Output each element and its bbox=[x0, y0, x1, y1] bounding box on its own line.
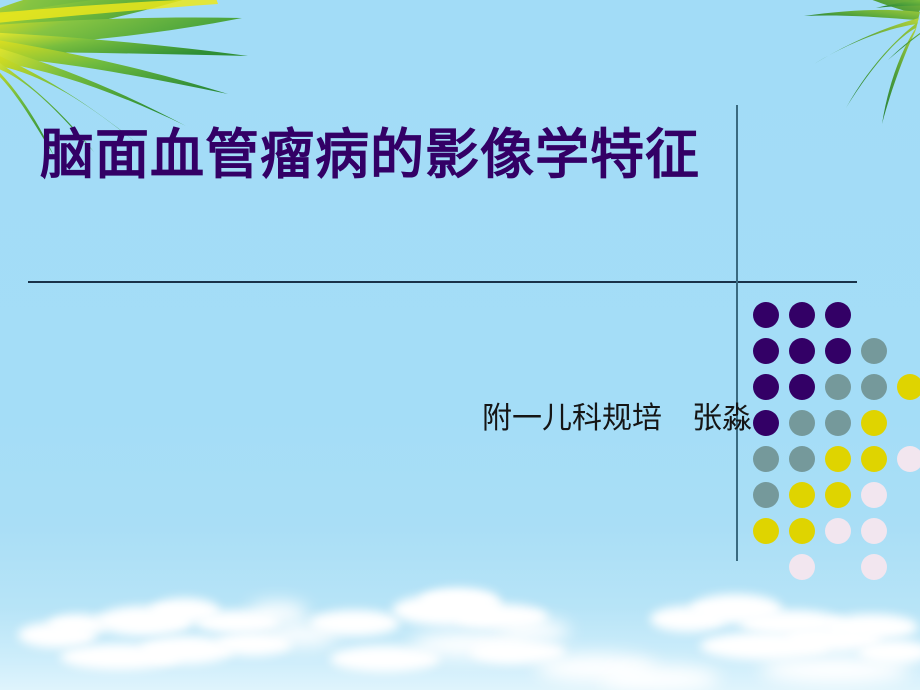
decor-dot-pink bbox=[897, 446, 920, 472]
decor-dot-purple bbox=[753, 374, 779, 400]
decor-dot-pink bbox=[861, 554, 887, 580]
decor-dot-pink bbox=[861, 482, 887, 508]
decor-dot-teal bbox=[753, 482, 779, 508]
decor-dot-yellow bbox=[789, 482, 815, 508]
cloud-shape bbox=[858, 640, 920, 664]
decor-dot-yellow bbox=[897, 374, 920, 400]
decor-dot-pink bbox=[825, 518, 851, 544]
decor-dot-purple bbox=[825, 302, 851, 328]
decor-dot-teal bbox=[861, 338, 887, 364]
cloud-shape bbox=[248, 602, 308, 624]
cloud-shape bbox=[600, 666, 720, 690]
decor-dot-purple bbox=[753, 302, 779, 328]
vertical-divider bbox=[736, 105, 738, 561]
presentation-slide: 脑面血管瘤病的影像学特征 附一儿科规培 张淼 bbox=[0, 0, 920, 690]
decor-dot-purple bbox=[789, 374, 815, 400]
decor-dot-teal bbox=[825, 410, 851, 436]
decor-dot-purple bbox=[789, 338, 815, 364]
decor-dot-yellow bbox=[753, 518, 779, 544]
cloud-shape bbox=[826, 614, 918, 640]
cloud-shape bbox=[500, 620, 570, 642]
decor-dot-purple bbox=[753, 338, 779, 364]
decor-dot-purple bbox=[789, 302, 815, 328]
decor-dot-purple bbox=[825, 338, 851, 364]
decor-dot-pink bbox=[789, 554, 815, 580]
decor-dot-teal bbox=[789, 410, 815, 436]
decor-dot-teal bbox=[789, 446, 815, 472]
decor-dot-yellow bbox=[861, 446, 887, 472]
decor-dot-yellow bbox=[825, 446, 851, 472]
horizontal-divider bbox=[28, 281, 857, 283]
cloud-band bbox=[0, 570, 920, 690]
slide-subtitle: 附一儿科规培 张淼 bbox=[300, 393, 752, 437]
decor-dot-yellow bbox=[825, 482, 851, 508]
cloud-shape bbox=[310, 610, 400, 636]
decor-dot-teal bbox=[825, 374, 851, 400]
decor-dot-yellow bbox=[789, 518, 815, 544]
decor-dot-teal bbox=[861, 374, 887, 400]
decor-dot-teal bbox=[753, 446, 779, 472]
decor-dot-purple bbox=[753, 410, 779, 436]
decor-dot-yellow bbox=[861, 410, 887, 436]
decor-dot-pink bbox=[861, 518, 887, 544]
slide-title: 脑面血管瘤病的影像学特征 bbox=[40, 124, 730, 186]
dot-grid-decoration bbox=[753, 302, 919, 526]
